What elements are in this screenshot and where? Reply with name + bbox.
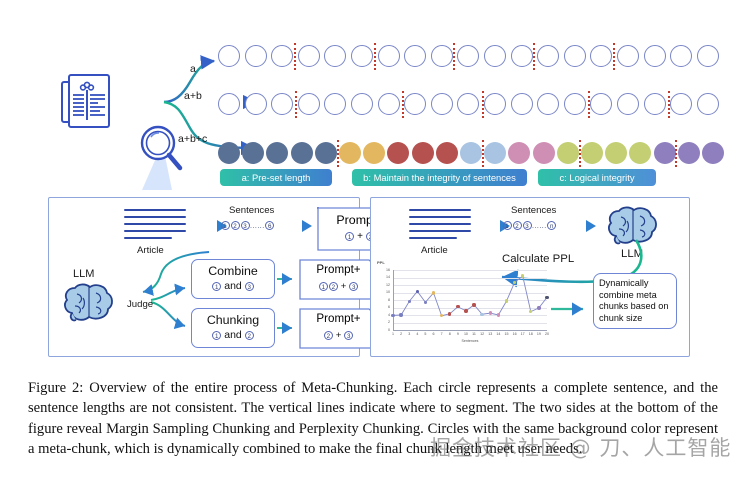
sentence-circle [245, 45, 267, 67]
sentence-circle [617, 45, 639, 67]
sentence-circle [557, 142, 579, 164]
sentence-circle [351, 45, 373, 67]
sentence-circle [378, 93, 400, 115]
chunk-divider [482, 91, 484, 118]
sentence-circle [670, 93, 692, 115]
chart-point [432, 291, 435, 294]
sentence-circle [654, 142, 676, 164]
sentence-circle [412, 142, 434, 164]
sentence-circle [404, 45, 426, 67]
chart-point [472, 303, 475, 306]
chart-point [497, 313, 500, 316]
sentence-token: 2 [513, 221, 522, 230]
sentence-circle [537, 93, 559, 115]
figure-area: a a+b a+b+c a: Pre-set length b: Maintai… [0, 0, 741, 370]
sentence-circle [511, 45, 533, 67]
token: 2 [245, 331, 254, 340]
sentence-circle [617, 93, 639, 115]
sentence-circle [245, 93, 267, 115]
sentence-circle [315, 142, 337, 164]
arrow-chart-to-dynamic-box [551, 303, 591, 315]
sentence-circle [242, 142, 264, 164]
sentence-circle [363, 142, 385, 164]
chart-xtick: 16 [511, 332, 519, 336]
sentence-tokens-left: 123......6 [220, 220, 275, 230]
chunk-divider [588, 91, 590, 118]
sentences-label-right: Sentences [511, 205, 556, 216]
chart-xtick: 10 [462, 332, 470, 336]
prompt-box-bot: Prompt+ 2 + 3 [299, 308, 378, 349]
chart-point [480, 313, 483, 316]
and-word: and [224, 329, 242, 341]
legend-pill-b: b: Maintain the integrity of sentences [352, 169, 527, 186]
arrow-chunking-to-prompt [277, 323, 299, 333]
sentence-circle [404, 93, 426, 115]
sentence-circle [298, 45, 320, 67]
sentence-circle [697, 93, 719, 115]
arrow-combine-to-prompt [277, 274, 299, 284]
logical-integrity-row [218, 142, 730, 168]
sentence-circle [697, 45, 719, 67]
sentence-token: 1 [503, 221, 512, 230]
brain-icon-left [63, 282, 115, 324]
chunk-divider [295, 91, 297, 118]
chart-point [505, 299, 508, 302]
token: 1 [345, 232, 354, 241]
chart-xtick: 2 [397, 332, 405, 336]
sentence-token-last: 6 [265, 221, 274, 230]
preset-length-row [218, 45, 730, 71]
prompt-box-mid-content: 12 + 3 [299, 281, 378, 292]
chart-xtick: 12 [478, 332, 486, 336]
chunking-box: Chunking 1 and 2 [191, 308, 275, 348]
chunk-divider [374, 43, 376, 70]
sentence-circle [508, 142, 530, 164]
chart-xlabel: Sentences [393, 339, 547, 343]
plus-sign: + [341, 281, 347, 292]
chart-xtick: 1 [389, 332, 397, 336]
sentence-circle [457, 45, 479, 67]
chart-xtick: 11 [470, 332, 478, 336]
sentence-circle [460, 142, 482, 164]
sentence-circle [670, 45, 692, 67]
perplexity-chunking-panel: Article Sentences 123......n LLM [370, 197, 690, 357]
sentence-circle [378, 45, 400, 67]
chart-xtick: 14 [494, 332, 502, 336]
chart-point [399, 313, 402, 316]
chunk-divider [533, 43, 535, 70]
sentence-circle [271, 93, 293, 115]
chart-xtick: 18 [527, 332, 535, 336]
sentence-token: 3 [523, 221, 532, 230]
arrow-label-ab: a+b [184, 90, 202, 102]
chart-point [416, 290, 419, 293]
sentence-circle [298, 93, 320, 115]
chunk-divider [337, 140, 339, 167]
sentence-circle [324, 93, 346, 115]
sentence-circle [484, 45, 506, 67]
sentence-circle [271, 45, 293, 67]
sentence-circle [644, 93, 666, 115]
legend-pill-a: a: Pre-set length [220, 169, 332, 186]
sentence-token: 1 [221, 221, 230, 230]
chunk-divider [294, 43, 296, 70]
chart-xtick: 15 [502, 332, 510, 336]
sentences-label-left: Sentences [229, 205, 274, 216]
token: 2 [324, 331, 333, 340]
sentence-circle [351, 93, 373, 115]
sentence-integrity-row [218, 93, 730, 119]
chart-xtick: 19 [535, 332, 543, 336]
legend-pill-c: c: Logical integrity [538, 169, 656, 186]
plus-sign: + [357, 231, 363, 242]
sentence-circle [431, 93, 453, 115]
sentence-circle [564, 93, 586, 115]
chart-xtick: 3 [405, 332, 413, 336]
sentence-circle [218, 45, 240, 67]
chart-xtick: 6 [430, 332, 438, 336]
article-label-right: Article [421, 245, 448, 256]
figure-caption: Figure 2: Overview of the entire process… [28, 378, 718, 460]
token: 2 [329, 282, 338, 291]
prompt-box-mid-title: Prompt+ [299, 263, 378, 276]
sentence-circle [339, 142, 361, 164]
chunk-divider [668, 91, 670, 118]
chunk-divider [482, 140, 484, 167]
combine-box-content: 1 and 3 [192, 280, 274, 292]
arrow-sentences-to-prompt-left [287, 220, 319, 232]
sentence-circle [537, 45, 559, 67]
sentence-circle [644, 45, 666, 67]
token: 1 [212, 331, 221, 340]
judge-label: Judge [127, 299, 153, 310]
chart-point [391, 314, 394, 317]
sentence-circle [581, 142, 603, 164]
token: 3 [349, 282, 358, 291]
sentence-token-last: n [547, 221, 556, 230]
sentence-circle [590, 93, 612, 115]
chart-point [537, 306, 540, 309]
sentence-token: 2 [231, 221, 240, 230]
arrow-sentences-to-llm-right [569, 220, 603, 232]
sentence-tokens-right: 123......n [502, 220, 557, 230]
token: 3 [344, 331, 353, 340]
sentence-circle [218, 93, 240, 115]
chart-point [408, 300, 411, 303]
chunk-divider [453, 43, 455, 70]
chart-xtick: 8 [446, 332, 454, 336]
dynamic-combine-box: Dynamically combine meta chunks based on… [593, 273, 677, 329]
chart-xtick: 20 [543, 332, 551, 336]
sentence-circle [266, 142, 288, 164]
sentence-circle [564, 45, 586, 67]
chunk-divider [675, 140, 677, 167]
sentence-circle [678, 142, 700, 164]
sentence-circle [511, 93, 533, 115]
sentence-circle [702, 142, 724, 164]
sentence-circle [431, 45, 453, 67]
chart-xtick: 9 [454, 332, 462, 336]
chunk-divider [579, 140, 581, 167]
sentence-ellipsis: ...... [250, 223, 265, 230]
token: 3 [245, 282, 254, 291]
chart-line-series [377, 260, 552, 350]
arrow-label-a: a [190, 63, 196, 75]
sentence-circle [484, 142, 506, 164]
combine-box: Combine 1 and 3 [191, 259, 275, 299]
ppl-line-chart: PPL0246810121416123456789101112131415161… [377, 260, 552, 350]
chart-point [489, 311, 492, 314]
sentence-circle [533, 142, 555, 164]
margin-sampling-chunking-panel: Article Sentences 123......6 Prompt+ [48, 197, 360, 357]
chart-xtick: 13 [486, 332, 494, 336]
sentence-circle [291, 142, 313, 164]
chart-point [464, 309, 467, 312]
sentence-circle [436, 142, 458, 164]
chunking-box-title: Chunking [192, 313, 274, 327]
sentence-token: 3 [241, 221, 250, 230]
chart-point [424, 301, 427, 304]
chunking-box-content: 1 and 2 [192, 329, 274, 341]
plus-sign: + [336, 330, 342, 341]
chunk-divider [402, 91, 404, 118]
sentence-circle [629, 142, 651, 164]
sentence-ellipsis: ...... [532, 223, 547, 230]
chart-xtick: 17 [519, 332, 527, 336]
arrow-label-abc: a+b+c [178, 133, 207, 145]
sentence-circle [457, 93, 479, 115]
sentence-circle [484, 93, 506, 115]
article-document-icon [58, 72, 113, 130]
chunk-divider [613, 43, 615, 70]
combine-box-title: Combine [192, 264, 274, 278]
chart-xtick: 7 [438, 332, 446, 336]
sentence-circle [324, 45, 346, 67]
and-word: and [224, 280, 242, 292]
chart-xtick: 4 [413, 332, 421, 336]
sentence-circle [387, 142, 409, 164]
prompt-box-bot-content: 2 + 3 [299, 330, 378, 341]
token: 1 [212, 282, 221, 291]
prompt-box-bot-title: Prompt+ [299, 312, 378, 325]
sentence-circle [590, 45, 612, 67]
chart-point [545, 296, 548, 299]
sentence-circle [218, 142, 240, 164]
llm-label-left: LLM [73, 268, 94, 280]
prompt-box-mid: Prompt+ 12 + 3 [299, 259, 378, 300]
sentence-circle [605, 142, 627, 164]
chart-xtick: 5 [421, 332, 429, 336]
token: 1 [319, 282, 328, 291]
